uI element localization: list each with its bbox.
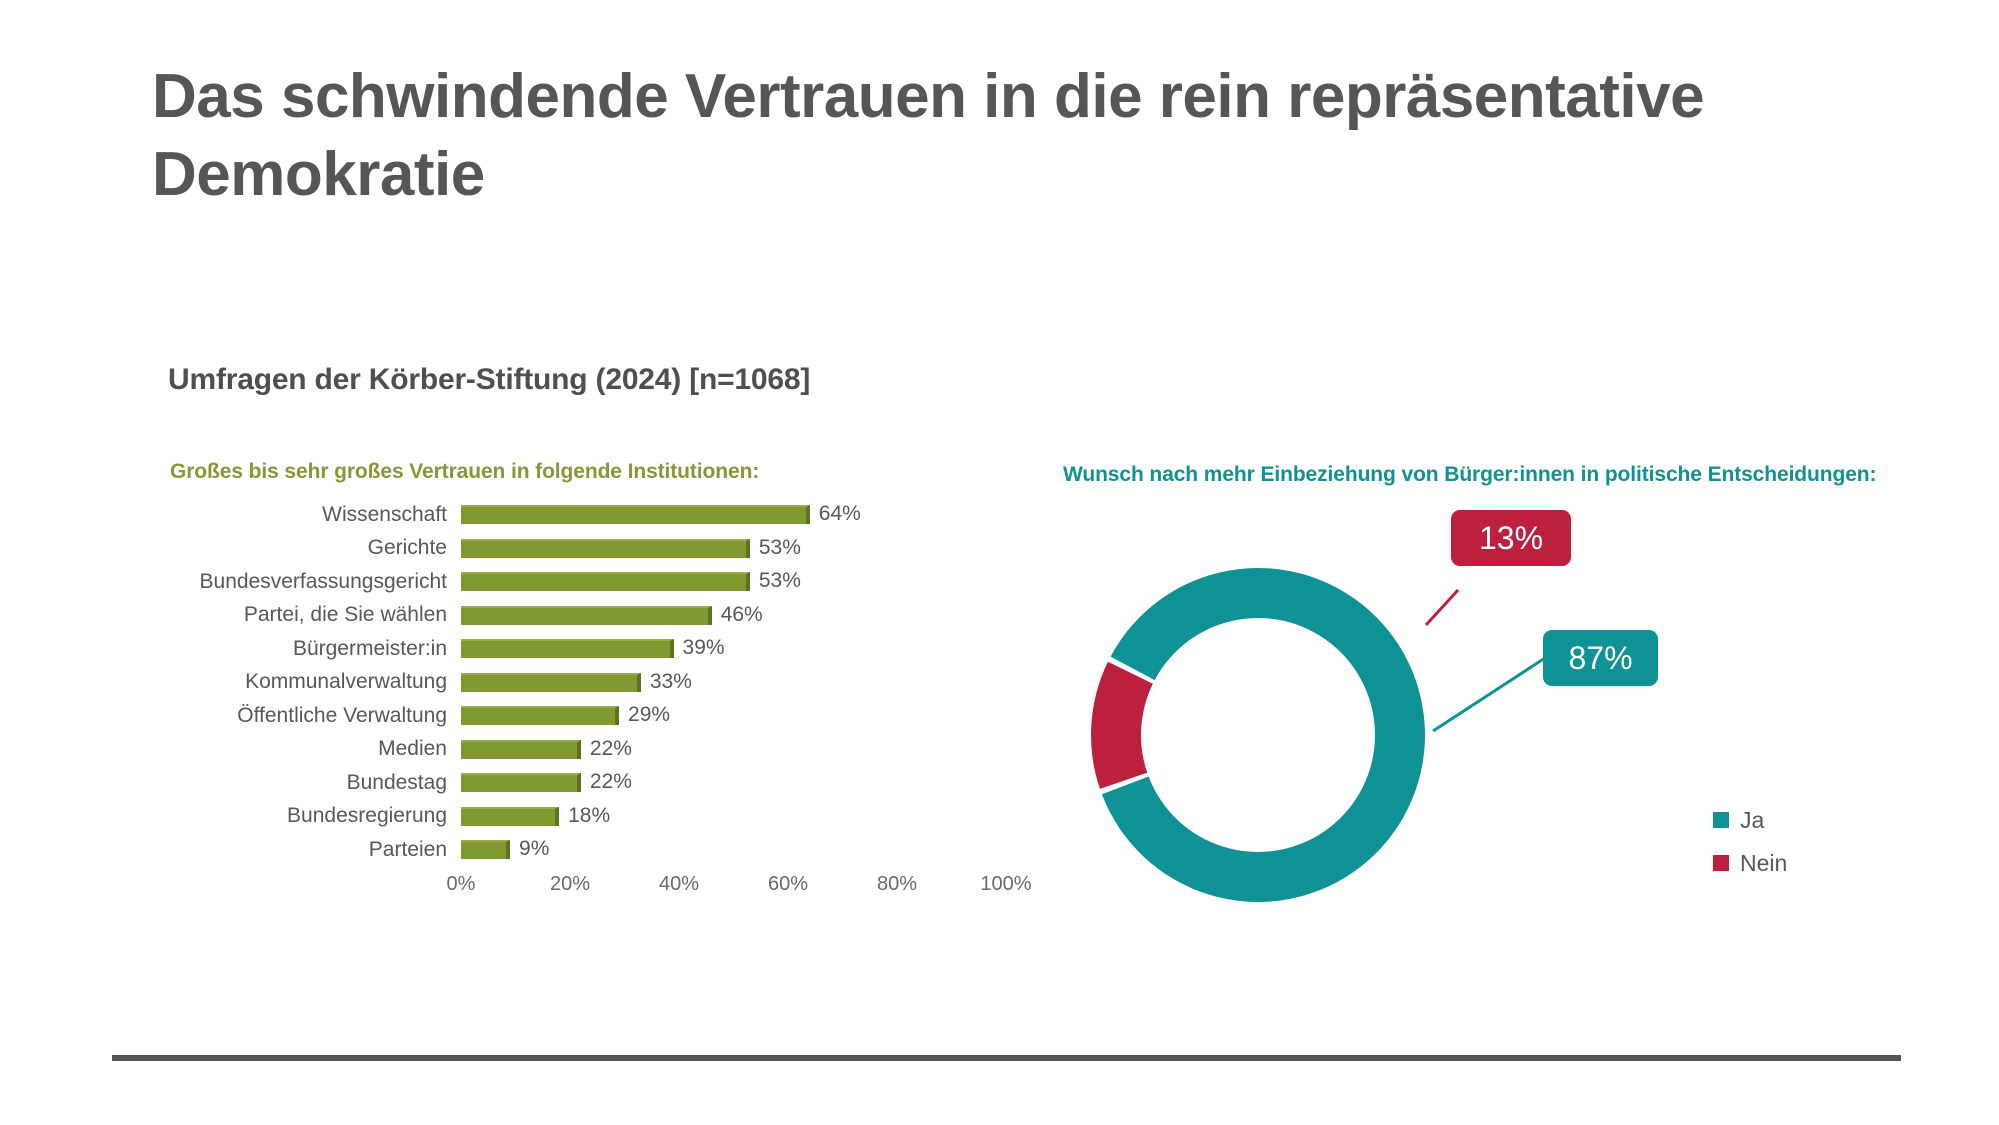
bar-track: 53% [461, 532, 1006, 566]
bar-category-label: Kommunalverwaltung [170, 670, 461, 694]
bar-value-label: 64% [819, 502, 861, 526]
donut-legend: Ja Nein [1713, 803, 1787, 889]
bar-value-label: 29% [628, 703, 670, 727]
bar-shape [461, 807, 559, 826]
bar-track: 9% [461, 833, 1006, 867]
bar-row: Kommunalverwaltung33% [170, 666, 1050, 700]
bar-row: Medien22% [170, 733, 1050, 767]
bar-row: Wissenschaft64% [170, 498, 1050, 532]
bar-category-label: Parteien [170, 838, 461, 862]
leader-line-ja [1433, 658, 1545, 731]
bar-value-label: 53% [759, 536, 801, 560]
axis-tick-label: 20% [550, 873, 590, 896]
bar-value-label: 9% [519, 837, 549, 861]
bar-row: Bundesverfassungsgericht53% [170, 565, 1050, 599]
bar-shape [461, 639, 674, 658]
axis-tick-label: 100% [980, 873, 1031, 896]
bar-row: Öffentliche Verwaltung29% [170, 699, 1050, 733]
bar-track: 22% [461, 766, 1006, 800]
bar-shape [461, 539, 750, 558]
donut-chart-area: 13% 87% Ja Nein [1063, 535, 1953, 935]
donut-slice-ja [1102, 568, 1425, 902]
bar-shape [461, 606, 712, 625]
bar-category-label: Bürgermeister:in [170, 637, 461, 661]
bar-shape [461, 706, 619, 725]
bar-category-label: Bundesregierung [170, 804, 461, 828]
legend-label-nein: Nein [1740, 850, 1787, 877]
bar-shape [461, 740, 581, 759]
page-title: Das schwindende Vertrauen in die rein re… [152, 58, 1712, 214]
subtitle: Umfragen der Körber-Stiftung (2024) [n=1… [168, 363, 810, 397]
donut-slice-nein [1091, 662, 1153, 789]
bar-track: 22% [461, 733, 1006, 767]
bar-row: Bundesregierung18% [170, 800, 1050, 834]
bar-row: Bürgermeister:in39% [170, 632, 1050, 666]
bar-category-label: Bundestag [170, 771, 461, 795]
bar-row: Partei, die Sie wählen46% [170, 599, 1050, 633]
bar-category-label: Wissenschaft [170, 503, 461, 527]
bar-track: 53% [461, 565, 1006, 599]
footer-divider [112, 1055, 1901, 1061]
bar-category-label: Öffentliche Verwaltung [170, 704, 461, 728]
bar-row: Parteien9% [170, 833, 1050, 867]
donut-arcs [1091, 568, 1425, 902]
donut-callout-ja: 87% [1543, 630, 1658, 686]
bar-value-label: 18% [568, 804, 610, 828]
bar-value-label: 33% [650, 670, 692, 694]
bar-track: 33% [461, 666, 1006, 700]
bar-row: Bundestag22% [170, 766, 1050, 800]
bar-track: 64% [461, 498, 1006, 532]
bar-category-label: Bundesverfassungsgericht [170, 570, 461, 594]
bar-category-label: Medien [170, 737, 461, 761]
axis-tick-label: 40% [659, 873, 699, 896]
bar-track: 18% [461, 800, 1006, 834]
donut-chart-title: Wunsch nach mehr Einbeziehung von Bürger… [1063, 460, 1913, 490]
bar-row: Gerichte53% [170, 532, 1050, 566]
leader-line-nein [1426, 590, 1458, 625]
legend-label-ja: Ja [1740, 807, 1764, 834]
donut-svg [1063, 535, 1953, 935]
bar-shape [461, 572, 750, 591]
legend-swatch-ja-icon [1713, 812, 1729, 828]
axis-tick-label: 80% [877, 873, 917, 896]
bar-shape [461, 673, 641, 692]
bar-value-label: 46% [721, 603, 763, 627]
donut-callout-nein: 13% [1451, 510, 1571, 566]
bar-track: 29% [461, 699, 1006, 733]
axis-tick-label: 0% [447, 873, 476, 896]
bar-value-label: 22% [590, 737, 632, 761]
donut-chart-panel: Wunsch nach mehr Einbeziehung von Bürger… [1063, 460, 1953, 940]
legend-item-nein: Nein [1713, 846, 1787, 880]
bar-shape [461, 505, 810, 524]
axis-tick-label: 60% [768, 873, 808, 896]
bar-category-label: Partei, die Sie wählen [170, 603, 461, 627]
bar-chart-rows: Wissenschaft64%Gerichte53%Bundesverfassu… [170, 498, 1050, 867]
legend-item-ja: Ja [1713, 803, 1787, 837]
bar-value-label: 53% [759, 569, 801, 593]
legend-swatch-nein-icon [1713, 855, 1729, 871]
bar-category-label: Gerichte [170, 536, 461, 560]
bar-chart-x-axis: 0%20%40%60%80%100% [461, 873, 1006, 905]
bar-shape [461, 840, 510, 859]
bar-chart-panel: Großes bis sehr großes Vertrauen in folg… [170, 460, 1050, 905]
bar-value-label: 22% [590, 770, 632, 794]
bar-chart-title: Großes bis sehr großes Vertrauen in folg… [170, 460, 1050, 484]
bar-shape [461, 773, 581, 792]
bar-value-label: 39% [683, 636, 725, 660]
bar-track: 39% [461, 632, 1006, 666]
bar-track: 46% [461, 599, 1006, 633]
